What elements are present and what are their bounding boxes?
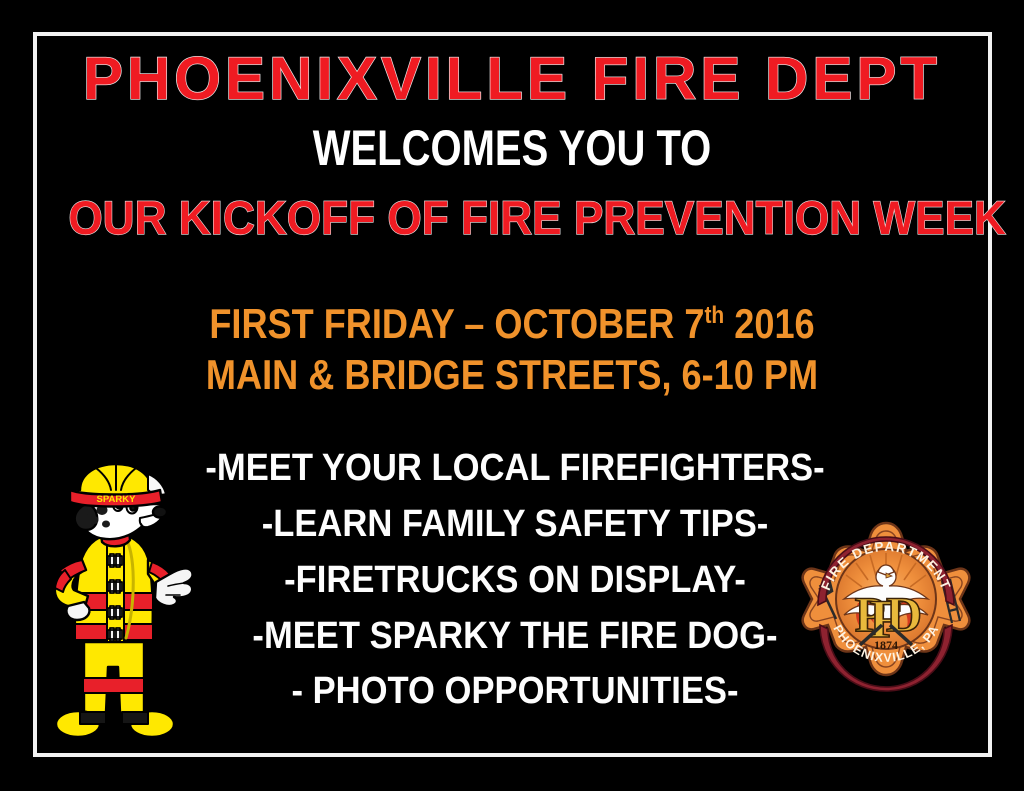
- headline-block: PHOENIXVILLE FIRE DEPT WELCOMES YOU TO O…: [40, 48, 984, 244]
- sparky-left-glove: [66, 602, 89, 620]
- event-date-prefix: FIRST FRIDAY – OCTOBER 7: [209, 300, 704, 347]
- sparky-helmet-text: SPARKY: [97, 494, 137, 505]
- event-date-year: 2016: [724, 300, 814, 347]
- event-date-line: FIRST FRIDAY – OCTOBER 7th 2016: [106, 298, 918, 349]
- welcome-line: WELCOMES YOU TO: [134, 121, 889, 176]
- fire-prevention-week-poster: PHOENIXVILLE FIRE DEPT WELCOMES YOU TO O…: [0, 0, 1024, 791]
- activity-item: -LEARN FAMILY SAFETY TIPS-: [174, 497, 857, 553]
- badge-established-year: 1874: [874, 638, 898, 652]
- event-location-line: MAIN & BRIDGE STREETS, 6-10 PM: [106, 349, 918, 400]
- sparky-fire-dog-mascot-icon: SPARKY: [44, 462, 200, 750]
- department-title: PHOENIXVILLE FIRE DEPT: [40, 48, 984, 109]
- kickoff-line: OUR KICKOFF OF FIRE PREVENTION WEEK: [68, 192, 955, 244]
- activity-item: -MEET YOUR LOCAL FIREFIGHTERS-: [174, 441, 857, 497]
- activities-list: -MEET YOUR LOCAL FIREFIGHTERS- -LEARN FA…: [140, 441, 890, 720]
- svg-text:D: D: [886, 586, 922, 642]
- sparky-nose: [153, 507, 167, 518]
- phoenixville-fire-department-badge-icon: P F D 1874: [800, 519, 972, 695]
- sparky-trouser-stripe: [83, 678, 144, 693]
- activity-item: -FIRETRUCKS ON DISPLAY-: [174, 553, 857, 609]
- activity-item: -MEET SPARKY THE FIRE DOG-: [174, 609, 857, 665]
- activity-item: - PHOTO OPPORTUNITIES-: [174, 664, 857, 720]
- event-details-block: FIRST FRIDAY – OCTOBER 7th 2016 MAIN & B…: [40, 298, 984, 400]
- event-date-ordinal: th: [704, 302, 724, 329]
